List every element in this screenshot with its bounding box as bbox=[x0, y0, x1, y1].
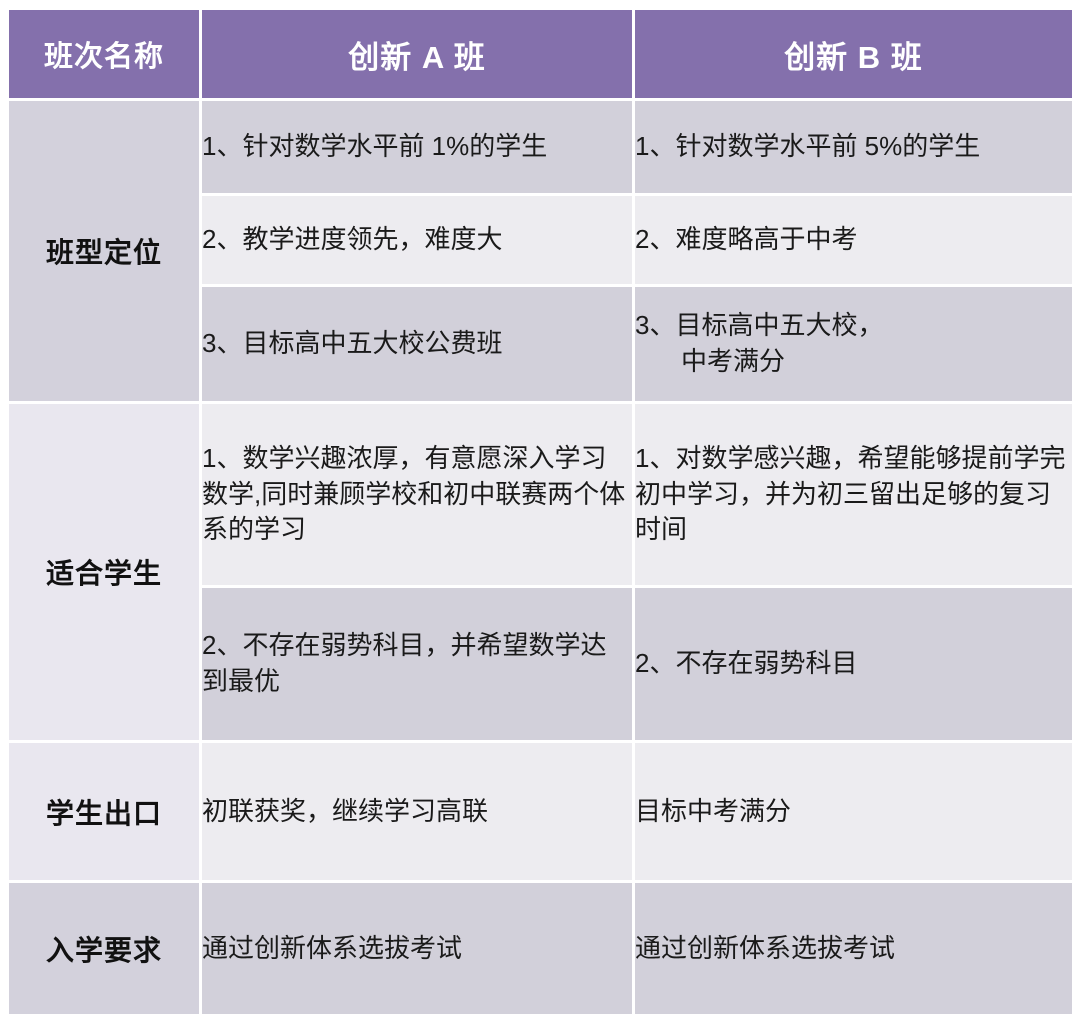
comparison-table-container: 班次名称 创新 A 班 创新 B 班 班型定位 1、针对数学水平前 1%的学生 … bbox=[6, 7, 1072, 1014]
cell-positioning-b-3: 3、目标高中五大校， 中考满分 bbox=[635, 287, 1072, 401]
cell-admission-b: 通过创新体系选拔考试 bbox=[635, 883, 1072, 1014]
row-label-student-outcome: 学生出口 bbox=[9, 743, 199, 880]
cell-positioning-a-1: 1、针对数学水平前 1%的学生 bbox=[202, 101, 632, 193]
row-label-admission-requirement: 入学要求 bbox=[9, 883, 199, 1014]
cell-outcome-b: 目标中考满分 bbox=[635, 743, 1072, 880]
cell-positioning-a-2: 2、教学进度领先，难度大 bbox=[202, 196, 632, 284]
cell-positioning-b-3-line2: 中考满分 bbox=[635, 344, 1072, 380]
header-column-a: 创新 A 班 bbox=[202, 10, 632, 98]
header-label-column: 班次名称 bbox=[9, 10, 199, 98]
table-row: 适合学生 1、数学兴趣浓厚，有意愿深入学习数学,同时兼顾学校和初中联赛两个体系的… bbox=[9, 404, 1072, 585]
cell-suitable-b-2: 2、不存在弱势科目 bbox=[635, 588, 1072, 740]
cell-positioning-a-3: 3、目标高中五大校公费班 bbox=[202, 287, 632, 401]
row-label-class-positioning: 班型定位 bbox=[9, 101, 199, 401]
cell-positioning-b-3-line1: 3、目标高中五大校， bbox=[635, 310, 883, 340]
class-comparison-table: 班次名称 创新 A 班 创新 B 班 班型定位 1、针对数学水平前 1%的学生 … bbox=[6, 7, 1075, 1017]
cell-outcome-a: 初联获奖，继续学习高联 bbox=[202, 743, 632, 880]
cell-positioning-b-2: 2、难度略高于中考 bbox=[635, 196, 1072, 284]
row-label-suitable-students: 适合学生 bbox=[9, 404, 199, 740]
table-row: 入学要求 通过创新体系选拔考试 通过创新体系选拔考试 bbox=[9, 883, 1072, 1014]
header-column-b: 创新 B 班 bbox=[635, 10, 1072, 98]
cell-positioning-b-1: 1、针对数学水平前 5%的学生 bbox=[635, 101, 1072, 193]
table-row: 学生出口 初联获奖，继续学习高联 目标中考满分 bbox=[9, 743, 1072, 880]
table-row: 班型定位 1、针对数学水平前 1%的学生 1、针对数学水平前 5%的学生 bbox=[9, 101, 1072, 193]
cell-suitable-a-2: 2、不存在弱势科目，并希望数学达到最优 bbox=[202, 588, 632, 740]
cell-suitable-a-1: 1、数学兴趣浓厚，有意愿深入学习数学,同时兼顾学校和初中联赛两个体系的学习 bbox=[202, 404, 632, 585]
cell-suitable-b-1: 1、对数学感兴趣，希望能够提前学完初中学习，并为初三留出足够的复习时间 bbox=[635, 404, 1072, 585]
table-header-row: 班次名称 创新 A 班 创新 B 班 bbox=[9, 10, 1072, 98]
cell-admission-a: 通过创新体系选拔考试 bbox=[202, 883, 632, 1014]
